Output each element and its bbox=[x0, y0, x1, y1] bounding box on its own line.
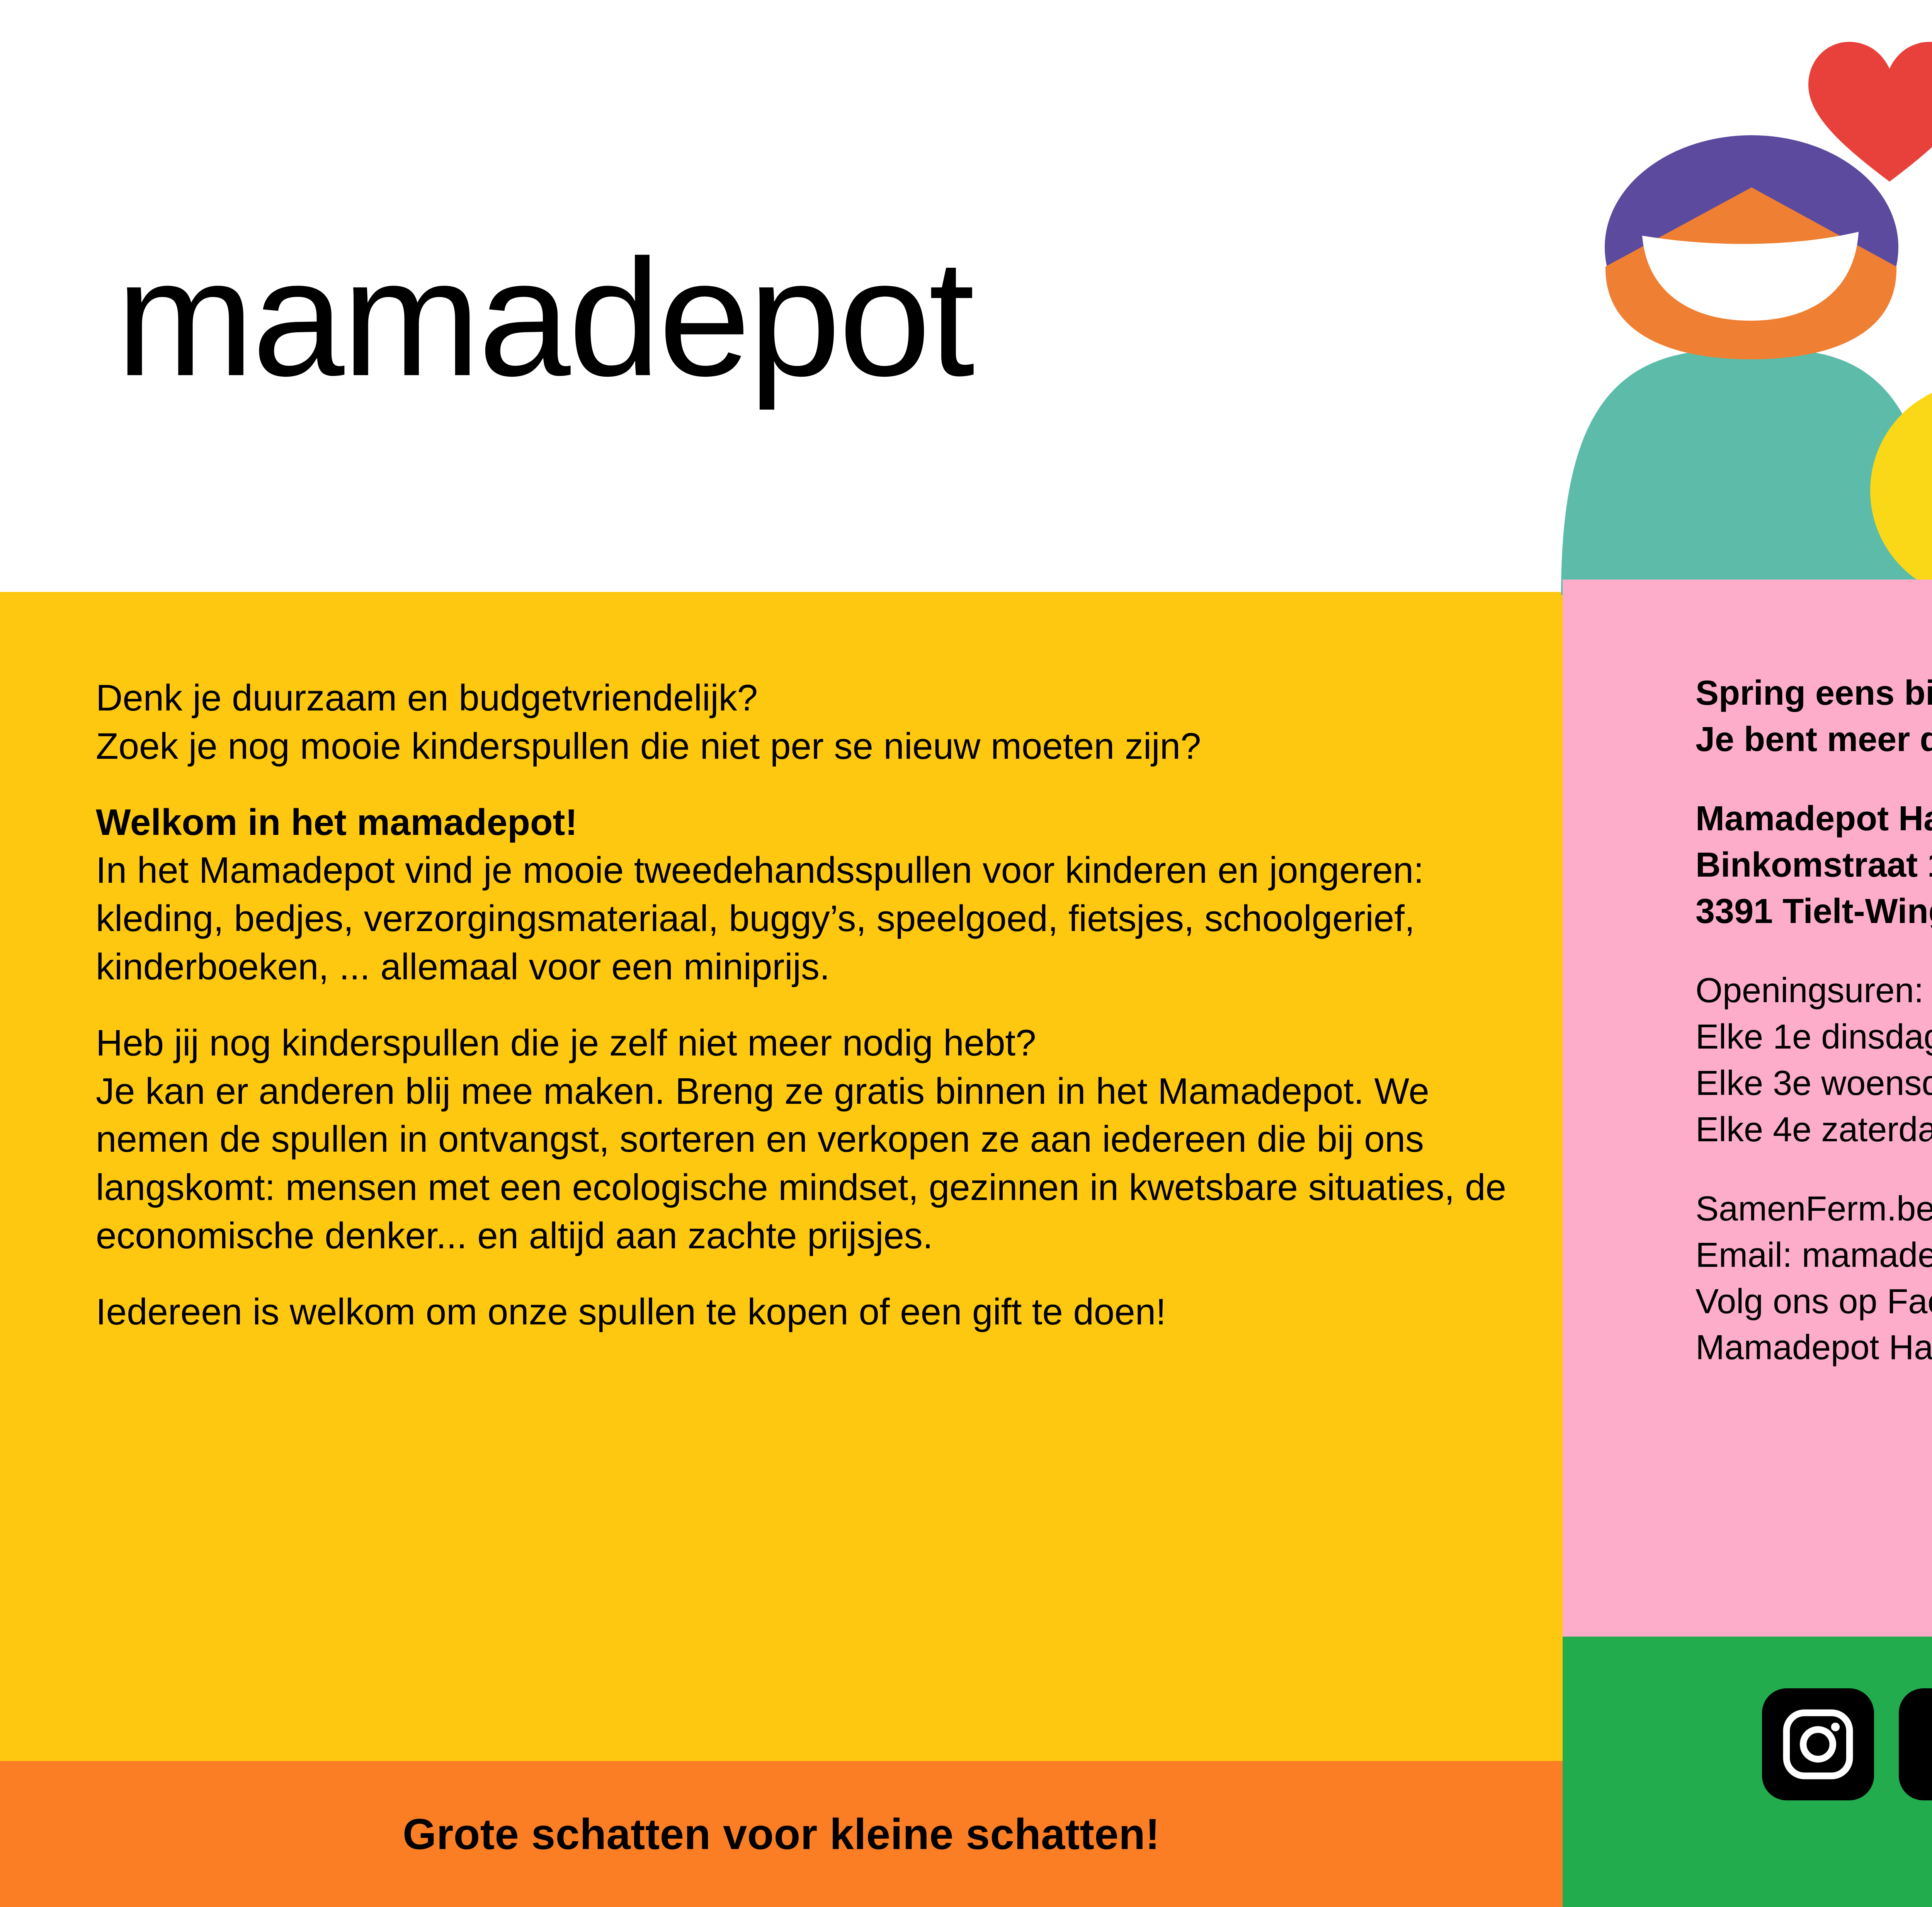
social-prompt: Volg ons op Facebook en instagram: bbox=[1696, 1279, 1932, 1325]
spacer bbox=[1696, 935, 1932, 968]
facebook-icon bbox=[1916, 1706, 1932, 1783]
social-handle: Mamadepot Hageland bbox=[1696, 1325, 1932, 1371]
address-name: Mamadepot Hageland bbox=[1696, 796, 1932, 842]
family-with-toys-illustration bbox=[1546, 0, 1932, 595]
hours-heading: Openingsuren: bbox=[1696, 968, 1932, 1014]
spacer bbox=[1696, 1153, 1932, 1186]
hours-line-3: Elke 4e zaterdag van de maand van 14u to… bbox=[1696, 1107, 1932, 1153]
left-panel-copy: Denk je duurzaam en budgetvriendelijk? Z… bbox=[96, 674, 1537, 1336]
welcome-heading: Welkom in het mamadepot! bbox=[96, 799, 1537, 847]
right-panel-copy: Spring eens binnen in het Mamadepot. Je … bbox=[1696, 670, 1932, 1371]
email-link[interactable]: Email: mamadepothageland@gmail.com bbox=[1696, 1232, 1932, 1279]
address-city: 3391 Tielt-Winge bbox=[1696, 889, 1932, 935]
floor-strip bbox=[1563, 580, 1932, 595]
website-link[interactable]: SamenFerm.be/mamadepot bbox=[1696, 1186, 1932, 1232]
address-street: Binkomstraat 14 bbox=[1696, 842, 1932, 889]
instagram-button[interactable] bbox=[1762, 1688, 1874, 1800]
closing-line: Iedereen is welkom om onze spullen te ko… bbox=[96, 1288, 1537, 1336]
hours-line-1: Elke 1e dinsdag van de maand van 18u tot… bbox=[1696, 1014, 1932, 1061]
invite-line-1: Spring eens binnen in het Mamadepot. bbox=[1696, 670, 1932, 717]
tagline-banner-text: Grote schatten voor kleine schatten! bbox=[0, 1761, 1563, 1907]
facebook-button[interactable] bbox=[1899, 1688, 1932, 1800]
spacer bbox=[96, 771, 1537, 799]
donate-question: Heb jij nog kinderspullen die je zelf ni… bbox=[96, 1019, 1537, 1067]
spacer bbox=[96, 1260, 1537, 1288]
intro-line-2: Zoek je nog mooie kinderspullen die niet… bbox=[96, 722, 1537, 771]
poster-canvas: mamadepot bbox=[0, 0, 1932, 1907]
hours-line-2: Elke 3e woensdag van de maand van 14u to… bbox=[1696, 1061, 1932, 1107]
intro-line-1: Denk je duurzaam en budgetvriendelijk? bbox=[96, 674, 1537, 722]
page-title: mamadepot bbox=[116, 235, 973, 401]
donate-body: Je kan er anderen blij mee maken. Breng … bbox=[96, 1067, 1537, 1260]
spacer bbox=[1696, 763, 1932, 796]
social-links-row bbox=[1762, 1688, 1932, 1800]
spacer bbox=[96, 991, 1537, 1019]
welcome-body: In het Mamadepot vind je mooie tweedehan… bbox=[96, 846, 1537, 991]
instagram-icon bbox=[1779, 1706, 1857, 1783]
invite-line-2: Je bent meer dan welkom. bbox=[1696, 717, 1932, 763]
